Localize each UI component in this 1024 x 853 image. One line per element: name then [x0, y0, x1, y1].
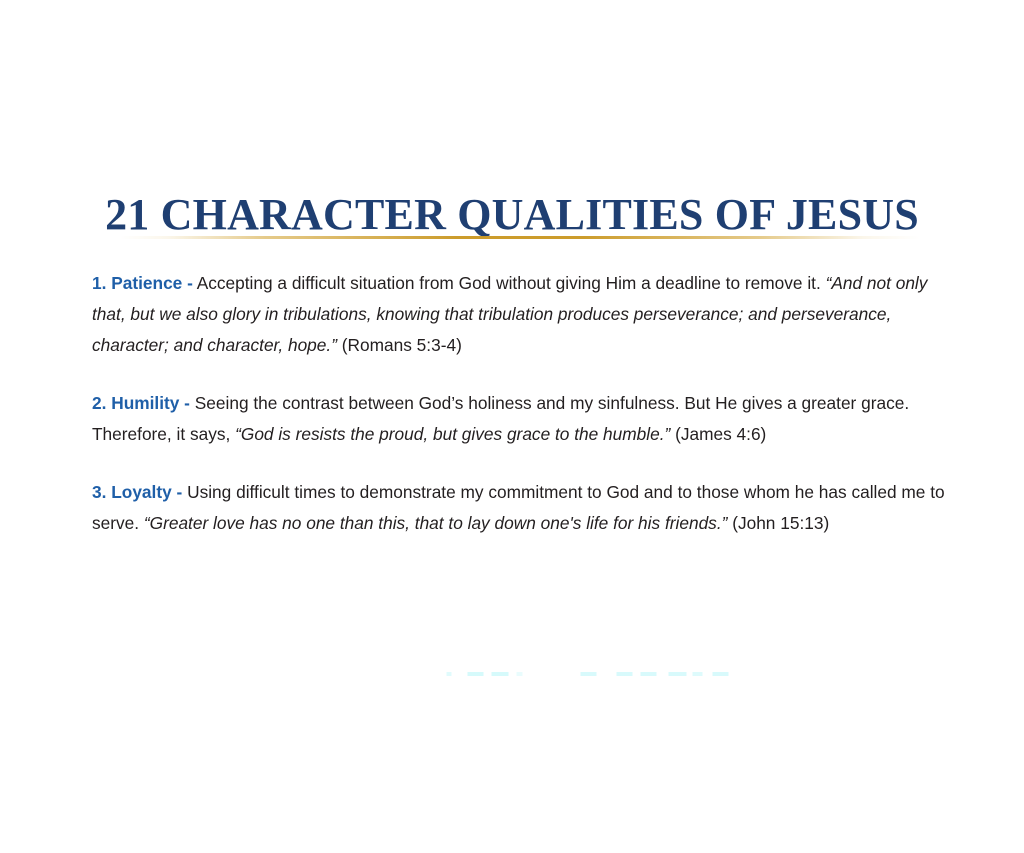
- clipped-text-artifact: [440, 666, 740, 682]
- title-divider: [120, 236, 920, 239]
- quality-scripture: “Greater love has no one than this, that…: [144, 513, 728, 533]
- page-title: 21 CHARACTER QUALITIES OF JESUS: [0, 191, 1024, 239]
- quality-label: 3. Loyalty -: [92, 482, 182, 502]
- quality-definition: Accepting a difficult situation from God…: [197, 273, 821, 293]
- slide-canvas: 21 CHARACTER QUALITIES OF JESUS 1. Patie…: [0, 0, 1024, 853]
- quality-citation: (Romans 5:3-4): [342, 335, 462, 355]
- quality-label: 2. Humility -: [92, 393, 190, 413]
- qualities-list: 1. Patience - Accepting a difficult situ…: [92, 268, 952, 539]
- list-item: 3. Loyalty - Using difficult times to de…: [92, 477, 952, 539]
- quality-citation: (James 4:6): [675, 424, 766, 444]
- list-item: 1. Patience - Accepting a difficult situ…: [92, 268, 952, 361]
- quality-label: 1. Patience -: [92, 273, 193, 293]
- list-item: 2. Humility - Seeing the contrast betwee…: [92, 388, 952, 450]
- quality-citation: (John 15:13): [732, 513, 829, 533]
- quality-scripture: “God is resists the proud, but gives gra…: [235, 424, 670, 444]
